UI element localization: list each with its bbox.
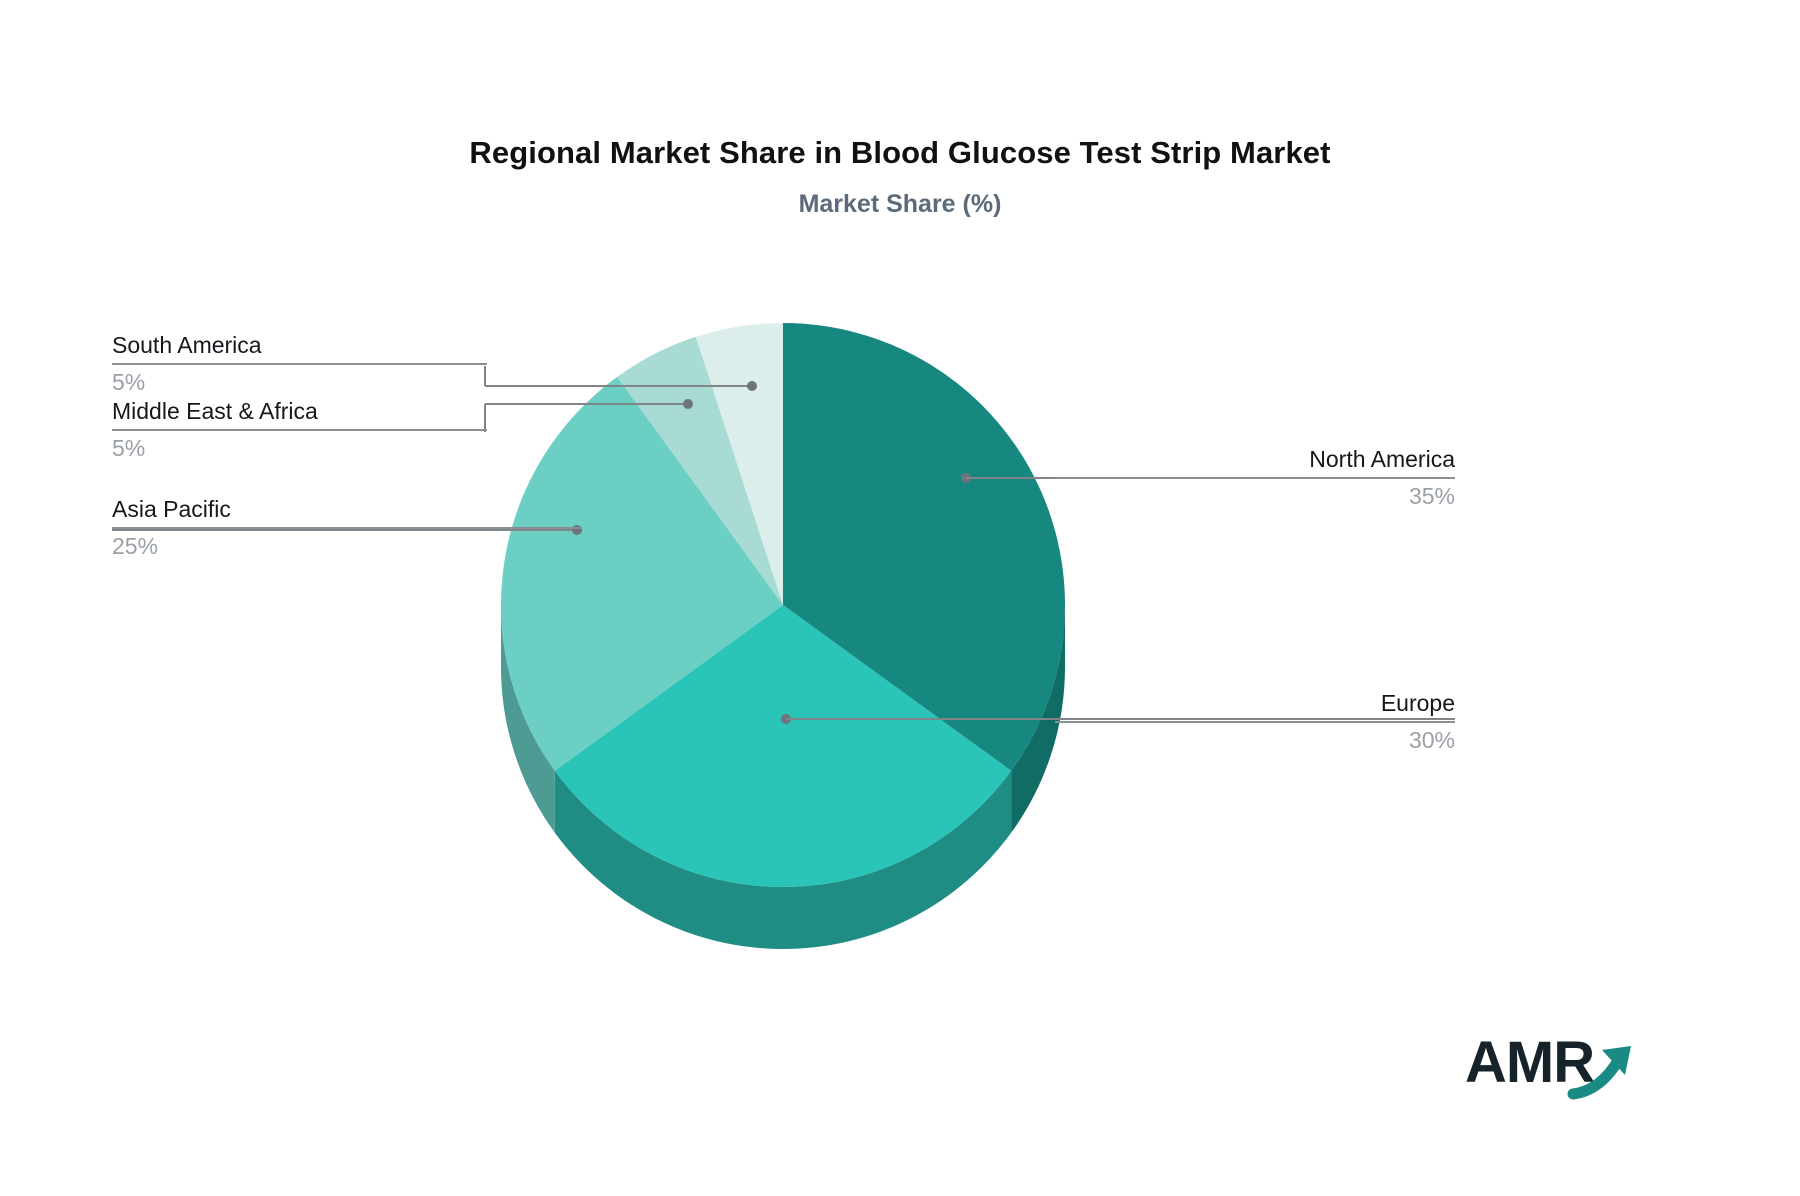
callout-label: Asia Pacific: [112, 494, 582, 524]
callout-rule: [112, 527, 582, 529]
callout-value: 35%: [1055, 481, 1455, 511]
callout-value: 25%: [112, 531, 582, 561]
callout-rule: [1055, 477, 1455, 479]
pie-chart: [0, 0, 1800, 1196]
callout-label: North America: [1055, 444, 1455, 474]
leader-dot: [683, 399, 693, 409]
callout-south-america: South America 5%: [112, 330, 487, 397]
leader-dot: [747, 381, 757, 391]
callout-rule: [112, 363, 487, 365]
callout-value: 5%: [112, 433, 487, 463]
callout-rule: [1055, 721, 1455, 723]
callout-label: Europe: [1055, 688, 1455, 718]
callout-asia-pacific: Asia Pacific 25%: [112, 494, 582, 561]
amr-logo: AMR: [1465, 1032, 1645, 1104]
growth-arrow-icon: [1465, 1032, 1645, 1104]
callout-label: Middle East & Africa: [112, 396, 487, 426]
callout-rule: [112, 429, 487, 431]
callout-europe: Europe 30%: [1055, 688, 1455, 755]
callout-north-america: North America 35%: [1055, 444, 1455, 511]
chart-canvas: Regional Market Share in Blood Glucose T…: [0, 0, 1800, 1196]
callout-label: South America: [112, 330, 487, 360]
callout-value: 5%: [112, 367, 487, 397]
callout-middle-east-africa: Middle East & Africa 5%: [112, 396, 487, 463]
callout-value: 30%: [1055, 725, 1455, 755]
pie-slices: [501, 323, 1065, 887]
